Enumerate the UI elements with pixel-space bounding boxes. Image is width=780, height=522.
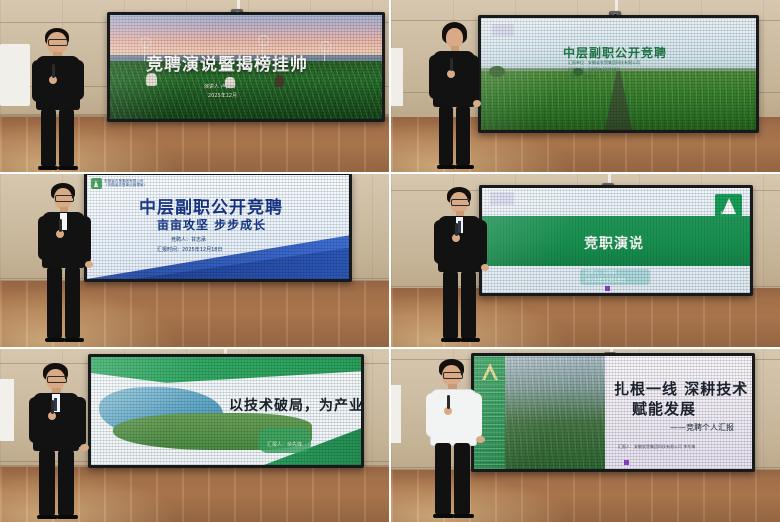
speaker-person-5 — [25, 360, 95, 522]
slide-4-line-2: 2025年12月18日 — [585, 277, 625, 284]
slide-4-line-1: 竞聘人：马晓轩 — [585, 270, 617, 276]
led-screen-2[interactable]: 中层副职公开竞聘 汇报单位：安徽省农垦集团科技有限公司 汇报时间：2025年12… — [478, 15, 759, 133]
nongken-logo-icon: 安徽农垦 — [715, 194, 742, 217]
speaker-person-2 — [425, 20, 487, 172]
photo-panel-3[interactable]: 安徽省农垦集团有限公司 （安徽省农垦事业管理局） 中层副职公开竞聘 亩亩攻坚 步… — [0, 174, 389, 347]
slide-2-title: 中层副职公开竞聘 — [563, 44, 667, 61]
speaker-person-1 — [26, 24, 92, 172]
photo-panel-2[interactable]: 中层副职公开竞聘 汇报单位：安徽省农垦集团科技有限公司 汇报时间：2025年12… — [391, 0, 780, 172]
led-screen-6[interactable]: 扎根一线 深耕技术 赋能发展 ——竞聘个人汇报 汇报人：安徽农垦集团科技有限公司… — [471, 353, 755, 472]
slide-1-line-1: 演讲人 卢良涛 — [204, 83, 236, 90]
slide-2-line-3: 汇报人：孙叶凡 — [568, 74, 596, 80]
slide-6-tagline: ——竞聘个人汇报 — [670, 422, 734, 433]
photo-panel-4[interactable]: 安徽农垦 竞职演说 竞聘人：马晓轩 2025年12月18日 — [391, 174, 780, 347]
slide-6-fine-print: 汇报人：安徽农垦集团科技有限公司 李冬梅 — [618, 444, 695, 450]
glasses-icon — [55, 195, 74, 202]
glasses-icon — [443, 372, 463, 379]
microphone-icon — [52, 64, 55, 78]
speaker-person-4 — [429, 183, 495, 347]
microphone-icon — [59, 219, 62, 232]
microphone-icon — [447, 395, 450, 409]
photo-collage-grid: 竞聘演说暨揭榜挂帅 演讲人 卢良涛 2025年12月 — [0, 0, 780, 520]
glasses-icon — [48, 39, 68, 46]
led-screen-1[interactable]: 竞聘演说暨揭榜挂帅 演讲人 卢良涛 2025年12月 — [107, 12, 385, 122]
slide-3-subtitle: 亩亩攻坚 步步成长 — [157, 216, 266, 233]
slide-1-title: 竞聘演说暨揭榜挂帅 — [146, 50, 308, 75]
slide-3-line-1: 竞聘人：甘志承 — [171, 236, 206, 243]
slide-5-title: 以技术破局，为产业增效 — [229, 395, 361, 415]
org-name-line-2: （安徽省农垦事业管理局） — [104, 184, 147, 188]
slide-5-badge: 汇报人：余先锋 — [258, 428, 311, 453]
photo-panel-5[interactable]: 以技术破局，为产业增效 汇报人：余先锋 — [0, 349, 389, 522]
slide-4-title: 竞职演说 — [584, 233, 644, 253]
speaker-person-3 — [34, 179, 100, 347]
slide-2-line-1: 汇报单位：安徽省农垦集团科技有限公司 — [568, 60, 640, 66]
slide-6-title-line-1: 扎根一线 深耕技术 — [614, 378, 748, 399]
field-worker — [275, 75, 284, 87]
slide-6-title-line-2: 赋能发展 — [632, 398, 696, 419]
led-screen-5[interactable]: 以技术破局，为产业增效 汇报人：余先锋 — [88, 354, 364, 468]
led-screen-4[interactable]: 安徽农垦 竞职演说 竞聘人：马晓轩 2025年12月18日 — [479, 185, 753, 296]
slide-1-line-2: 2025年12月 — [208, 92, 237, 99]
microphone-icon — [51, 400, 54, 414]
photo-panel-6[interactable]: 扎根一线 深耕技术 赋能发展 ——竞聘个人汇报 汇报人：安徽农垦集团科技有限公司… — [391, 349, 780, 522]
speaker-person-6 — [421, 356, 489, 522]
slide-2-line-2: 汇报时间：2025年12月18日 — [568, 67, 620, 73]
slide-3-line-2: 汇报时间：2025年12月18日 — [157, 246, 222, 253]
glasses-icon — [451, 199, 470, 206]
glasses-icon — [47, 376, 67, 383]
microphone-icon — [450, 58, 453, 71]
microphone-icon — [455, 223, 458, 236]
photo-panel-1[interactable]: 竞聘演说暨揭榜挂帅 演讲人 卢良涛 2025年12月 — [0, 0, 389, 172]
led-screen-3[interactable]: 安徽省农垦集团有限公司 （安徽省农垦事业管理局） 中层副职公开竞聘 亩亩攻坚 步… — [84, 174, 352, 282]
slide-3-title: 中层副职公开竞聘 — [139, 193, 283, 218]
